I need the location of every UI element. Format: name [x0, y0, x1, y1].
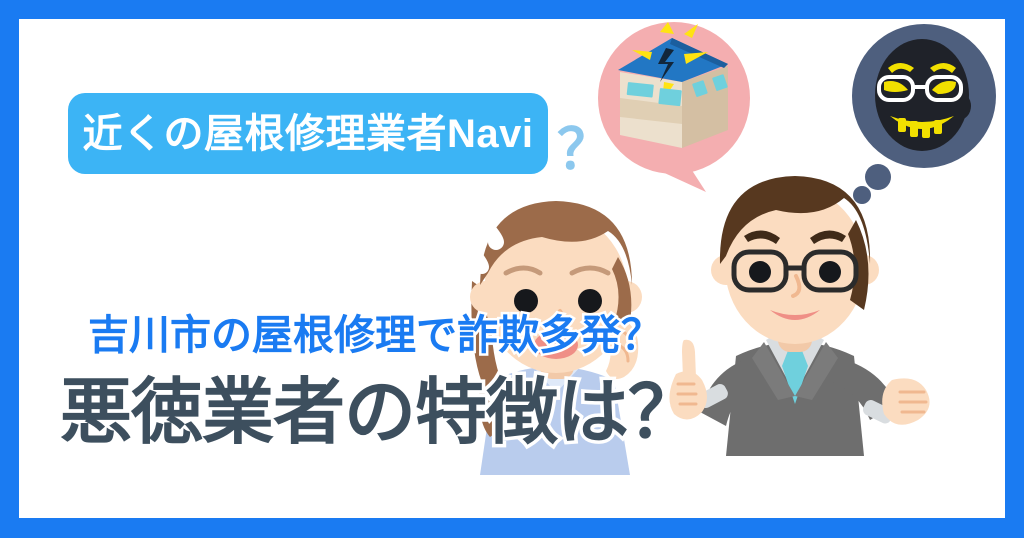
open-hand: [882, 378, 929, 424]
frame-border-bottom: [0, 518, 1024, 538]
frame-border-top: [0, 0, 1024, 19]
banner-canvas: 近くの屋根修理業者Navi ？ 吉川市の屋根修理で詐欺多発？ 悪徳業者の特徴は？: [0, 0, 1024, 538]
site-badge[interactable]: 近くの屋根修理業者Navi: [68, 93, 548, 174]
man-head: [711, 176, 879, 344]
headline-main: 悪徳業者の特徴は？: [60, 372, 699, 455]
question-mark-decoration: ？: [557, 122, 613, 178]
frame-border-left: [0, 0, 19, 538]
frame-border-right: [1005, 0, 1024, 538]
pointing-businessman-character: [660, 160, 930, 505]
headline-subtitle: 吉川市の屋根修理で詐欺多発？: [88, 313, 662, 358]
site-badge-label: 近くの屋根修理業者Navi: [83, 114, 534, 154]
